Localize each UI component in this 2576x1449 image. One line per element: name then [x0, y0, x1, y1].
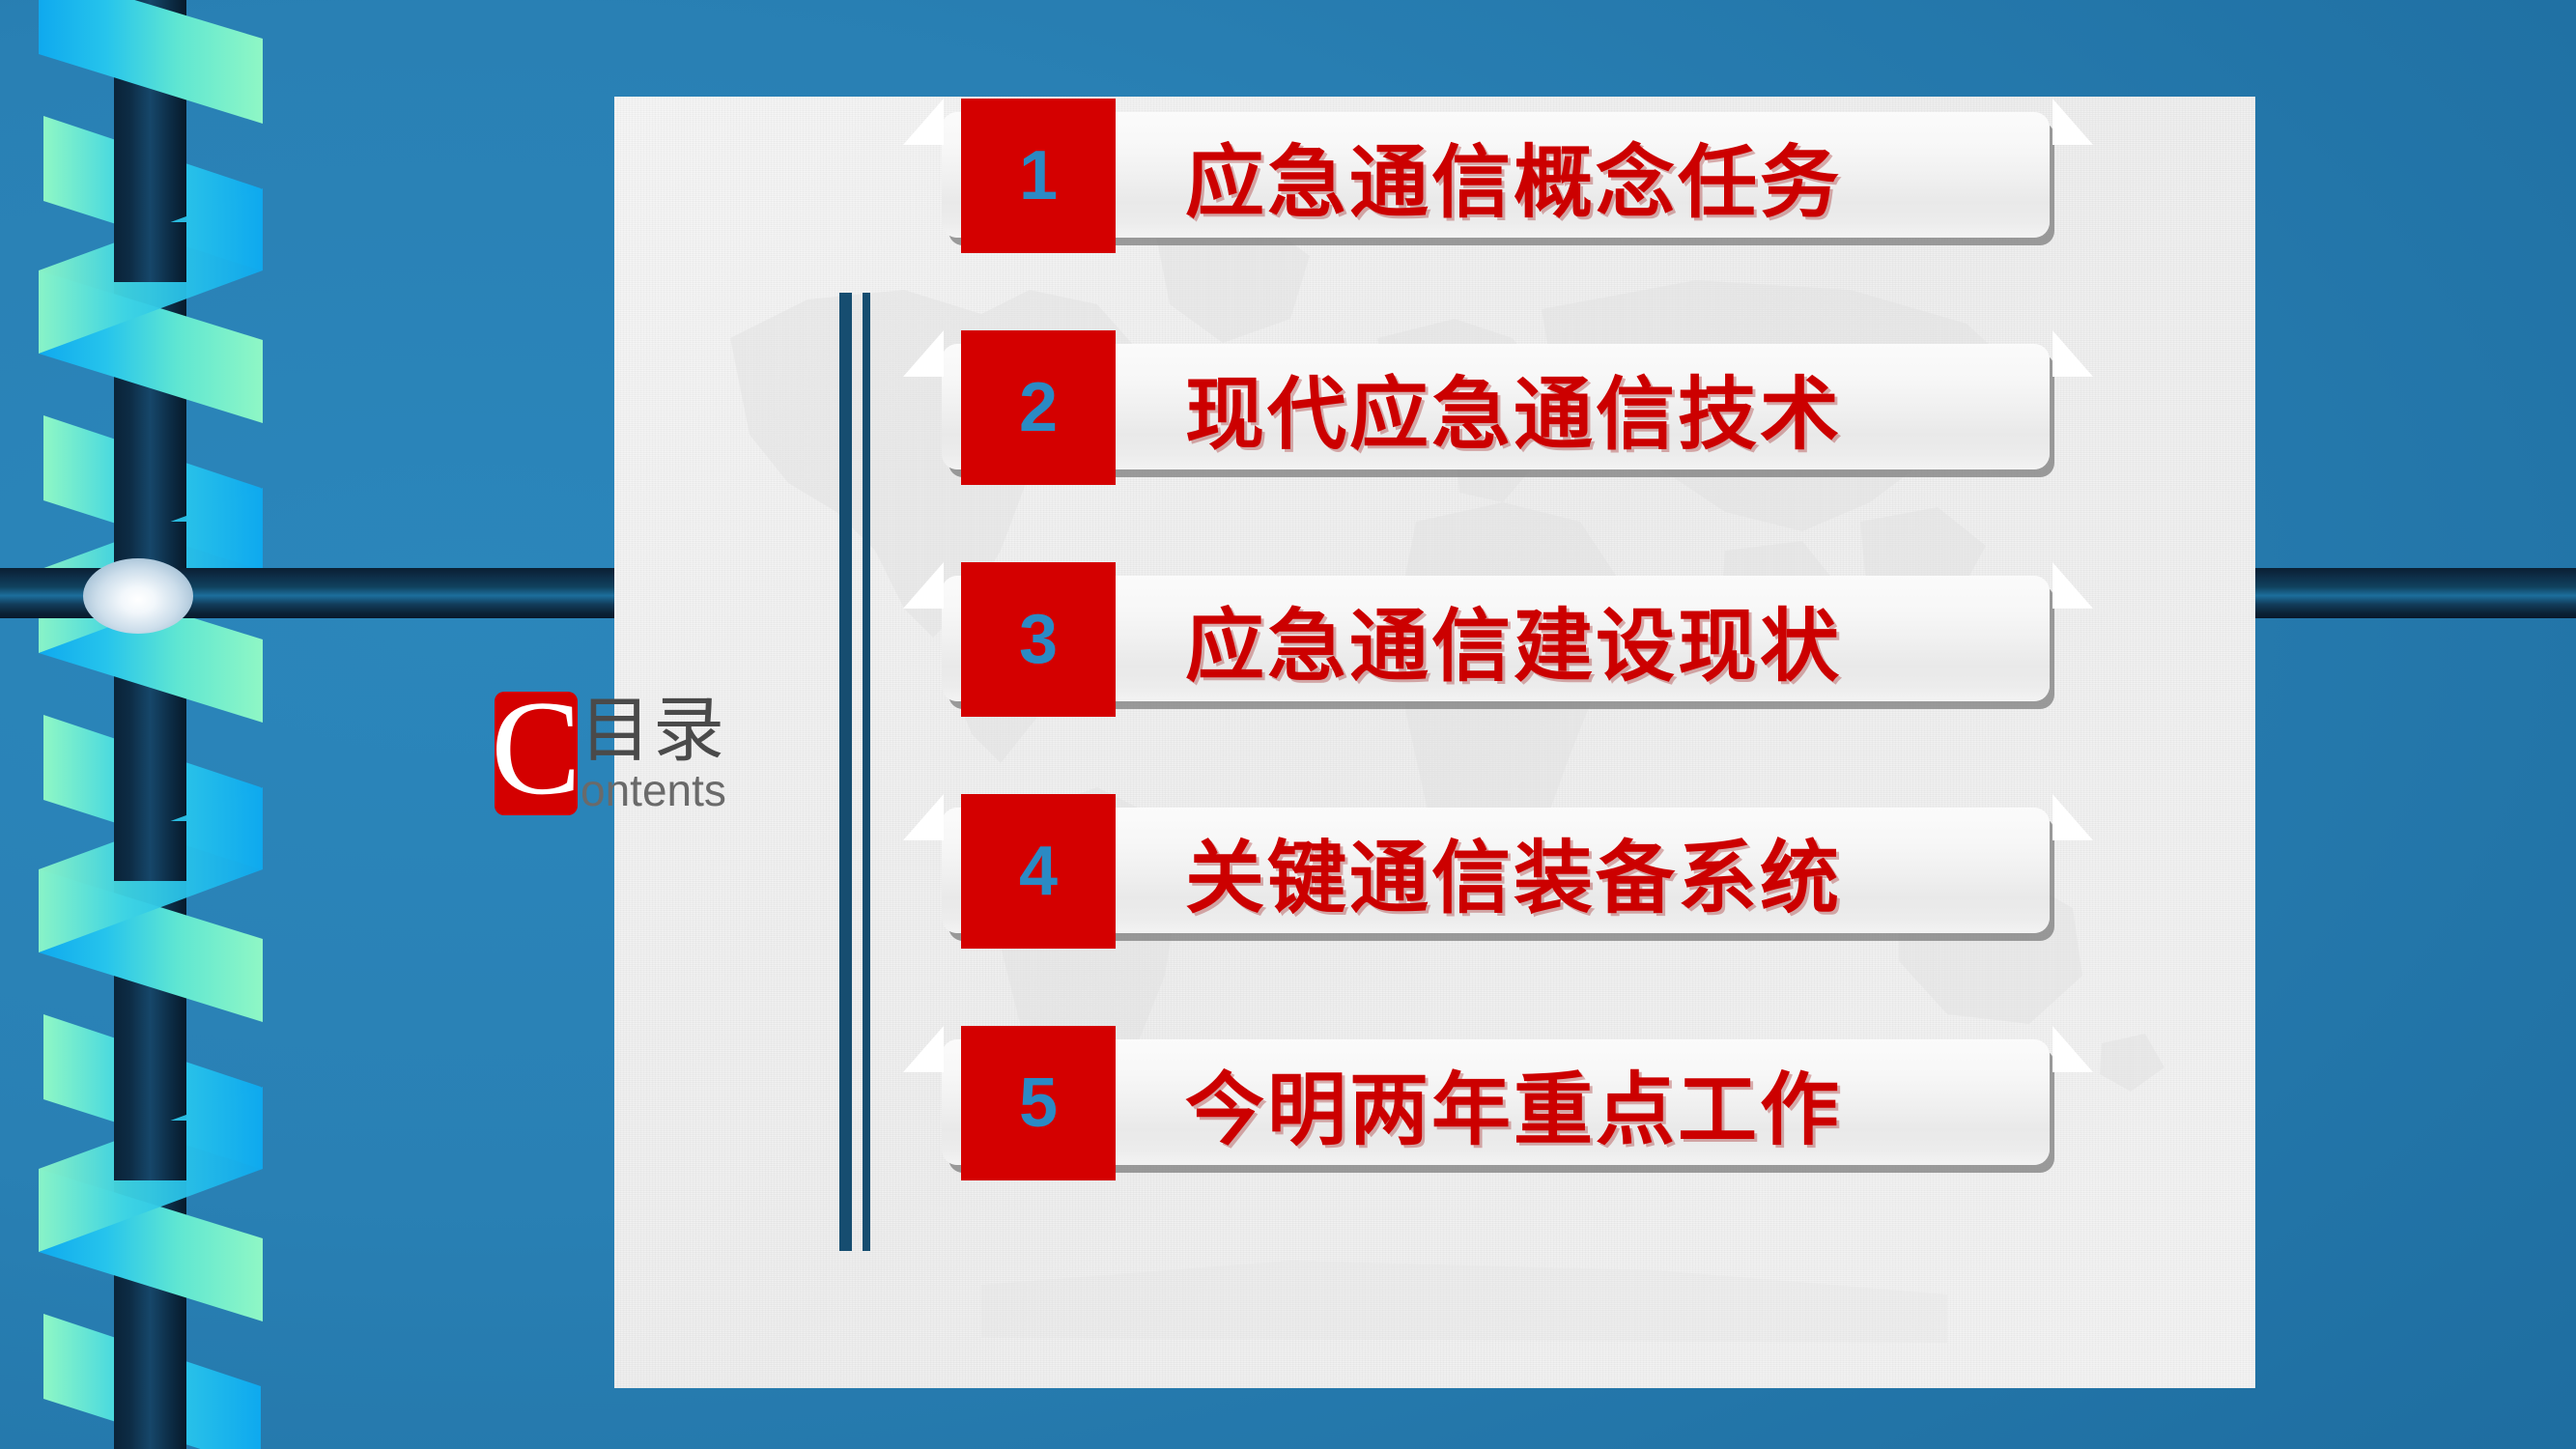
- menu-item-1-fold-left: [903, 99, 944, 145]
- menu-item-5[interactable]: 5 今明两年重点工作: [942, 1026, 2052, 1180]
- menu-item-5-number: 5: [961, 1026, 1116, 1180]
- menu-item-1-label: 应急通信概念任务: [1146, 112, 1881, 238]
- menu-item-2[interactable]: 2 现代应急通信技术: [942, 330, 2052, 485]
- menu-item-2-fold-left: [903, 330, 944, 377]
- menu-item-3[interactable]: 3 应急通信建设现状: [942, 562, 2052, 717]
- menu-item-4-fold-left: [903, 794, 944, 840]
- menu-item-4-fold-right: [2052, 794, 2093, 840]
- menu-item-1[interactable]: 1 应急通信概念任务: [942, 99, 2052, 253]
- menu-item-3-label: 应急通信建设现状: [1146, 576, 1881, 701]
- menu-item-4-label: 关键通信装备系统: [1146, 808, 1881, 933]
- slide-canvas: C 目录 ontents 1 应急通信概念任务 2 现代应急通信技术 3: [0, 0, 2576, 1449]
- menu-item-2-fold-right: [2052, 330, 2093, 377]
- menu-item-3-number: 3: [961, 562, 1116, 717]
- menu-item-1-number: 1: [961, 99, 1116, 253]
- menu-item-1-fold-right: [2052, 99, 2093, 145]
- menu-item-4-number: 4: [961, 794, 1116, 949]
- menu-item-5-label: 今明两年重点工作: [1146, 1039, 1881, 1165]
- menu-item-5-fold-left: [903, 1026, 944, 1072]
- menu-item-2-number: 2: [961, 330, 1116, 485]
- menu-item-2-label: 现代应急通信技术: [1146, 344, 1881, 469]
- menu-item-5-fold-right: [2052, 1026, 2093, 1072]
- contents-menu: 1 应急通信概念任务 2 现代应急通信技术 3 应急通信建设现状 4 关键通信装…: [0, 0, 2576, 1449]
- menu-item-3-fold-left: [903, 562, 944, 609]
- menu-item-4[interactable]: 4 关键通信装备系统: [942, 794, 2052, 949]
- menu-item-3-fold-right: [2052, 562, 2093, 609]
